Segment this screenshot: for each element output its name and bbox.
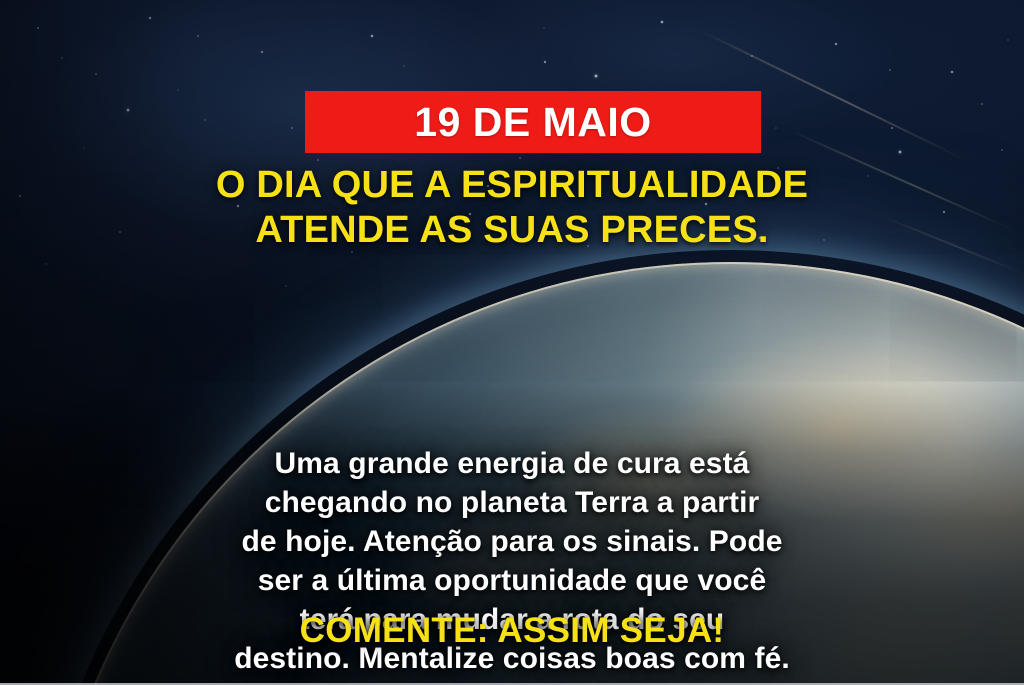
date-banner-label: 19 DE MAIO (414, 102, 651, 143)
social-media-poster: 19 DE MAIO O DIA QUE A ESPIRITUALIDADE A… (0, 0, 1024, 685)
body-line-1: Uma grande energia de cura está (36, 444, 988, 483)
date-banner: 19 DE MAIO (305, 91, 761, 153)
body-line-4: ser a última oportunidade que você (36, 561, 988, 600)
body-line-2: chegando no planeta Terra a partir (36, 483, 988, 522)
headline-line-1: O DIA QUE A ESPIRITUALIDADE (28, 163, 996, 208)
call-to-action-label: COMENTE: ASSIM SEJA! (0, 612, 1024, 651)
poster-content: 19 DE MAIO O DIA QUE A ESPIRITUALIDADE A… (0, 0, 1024, 685)
headline-line-2: ATENDE AS SUAS PRECES. (28, 208, 996, 253)
body-line-3: de hoje. Atenção para os sinais. Pode (36, 522, 988, 561)
headline: O DIA QUE A ESPIRITUALIDADE ATENDE AS SU… (0, 163, 1024, 253)
